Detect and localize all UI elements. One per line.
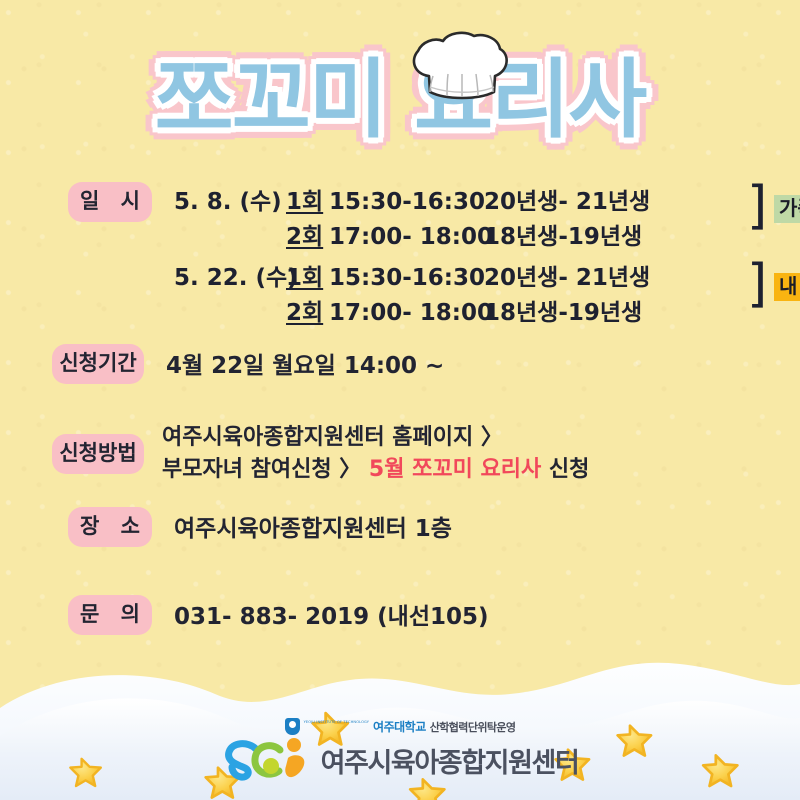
poster-footer: YEOJU INSTITUTE OF TECHNOLOGY 여주대학교 산학협력… — [0, 650, 800, 800]
method-line-2-prefix: 부모자녀 참여신청 〉 — [162, 457, 369, 482]
schedule-session: 2회 — [286, 217, 324, 251]
label-period: 신청기간 — [52, 344, 144, 384]
label-datetime: 일 시 — [68, 182, 152, 222]
schedule-block: 5. 8. (수) 1회 15:30-16:30 20년생- 21년생 2회 1… — [174, 182, 664, 328]
university-tagline: YEOJU INSTITUTE OF TECHNOLOGY — [304, 721, 369, 725]
university-name: 여주대학교 — [373, 718, 426, 735]
footer-logo-block: YEOJU INSTITUTE OF TECHNOLOGY 여주대학교 산학협력… — [0, 718, 800, 784]
university-emblem-icon — [285, 718, 300, 735]
row-period: 신청기간 4월 22일 월요일 14:00 ~ — [52, 344, 444, 384]
schedule-row: 5. 22. (수) 1회 15:30-16:30 20년생- 21년생 — [174, 258, 664, 293]
schedule-time: 15:30-16:30 — [324, 189, 484, 215]
schedule-date: 5. 22. (수) — [174, 258, 286, 292]
schedule-time: 17:00- 18:00 — [324, 224, 484, 250]
badge-menu-cake: 내 얼굴 케이크 — [774, 273, 800, 301]
sc-logo-icon — [222, 736, 314, 784]
method-line-1: 여주시육아종합지원센터 홈페이지 〉 — [162, 422, 589, 454]
group-bracket: ] — [747, 258, 767, 310]
schedule-row: 5. 8. (수) 1회 15:30-16:30 20년생- 21년생 — [174, 182, 664, 217]
schedule-row: 2회 17:00- 18:00 18년생-19년생 — [174, 217, 664, 252]
schedule-age: 20년생- 21년생 — [484, 182, 664, 216]
schedule-time: 15:30-16:30 — [324, 265, 484, 291]
schedule-age: 18년생-19년생 — [484, 293, 664, 327]
label-method: 신청방법 — [52, 434, 144, 474]
poster-title-area: 쪼꼬미 요리사 — [0, 28, 800, 173]
schedule-session: 1회 — [286, 182, 324, 216]
center-line: 여주시육아종합지원센터 — [0, 736, 800, 784]
contact-text: 031- 883- 2019 (내선105) — [174, 595, 489, 634]
place-text: 여주시육아종합지원센터 1층 — [174, 507, 452, 546]
badge-menu-cookie: 가족쿠키 — [774, 195, 800, 223]
schedule-age: 20년생- 21년생 — [484, 258, 664, 292]
row-contact: 문 의 031- 883- 2019 (내선105) — [68, 595, 489, 635]
row-datetime: 일 시 5. 8. (수) 1회 15:30-16:30 20년생- 21년생 … — [68, 182, 664, 328]
center-name: 여주시육아종합지원센터 — [321, 741, 579, 780]
schedule-session: 1회 — [286, 258, 324, 292]
schedule-time: 17:00- 18:00 — [324, 300, 484, 326]
label-place: 장 소 — [68, 507, 152, 547]
schedule-age: 18년생-19년생 — [484, 217, 664, 251]
poster-canvas: 쪼꼬미 요리사 일 시 5. 8. (수) 1회 15:30-16:30 20년… — [0, 0, 800, 800]
schedule-session: 2회 — [286, 293, 324, 327]
method-program-name: 5월 쪼꼬미 요리사 — [369, 457, 541, 482]
schedule-date: 5. 8. (수) — [174, 182, 286, 216]
group-bracket: ] — [747, 180, 767, 232]
period-text: 4월 22일 월요일 14:00 ~ — [166, 344, 444, 383]
method-body: 여주시육아종합지원센터 홈페이지 〉 부모자녀 참여신청 〉 5월 쪼꼬미 요리… — [162, 422, 589, 486]
university-operation-note: 산학협력단위탁운영 — [430, 719, 516, 735]
label-contact: 문 의 — [68, 595, 152, 635]
row-method: 신청방법 여주시육아종합지원센터 홈페이지 〉 부모자녀 참여신청 〉 5월 쪼… — [52, 422, 589, 486]
chef-hat-icon — [408, 30, 512, 110]
method-line-2-suffix: 신청 — [541, 457, 589, 482]
method-line-2: 부모자녀 참여신청 〉 5월 쪼꼬미 요리사 신청 — [162, 454, 589, 486]
row-place: 장 소 여주시육아종합지원센터 1층 — [68, 507, 452, 547]
schedule-row: 2회 17:00- 18:00 18년생-19년생 — [174, 293, 664, 328]
university-line: YEOJU INSTITUTE OF TECHNOLOGY 여주대학교 산학협력… — [0, 718, 800, 735]
page-title: 쪼꼬미 요리사 — [0, 54, 800, 147]
